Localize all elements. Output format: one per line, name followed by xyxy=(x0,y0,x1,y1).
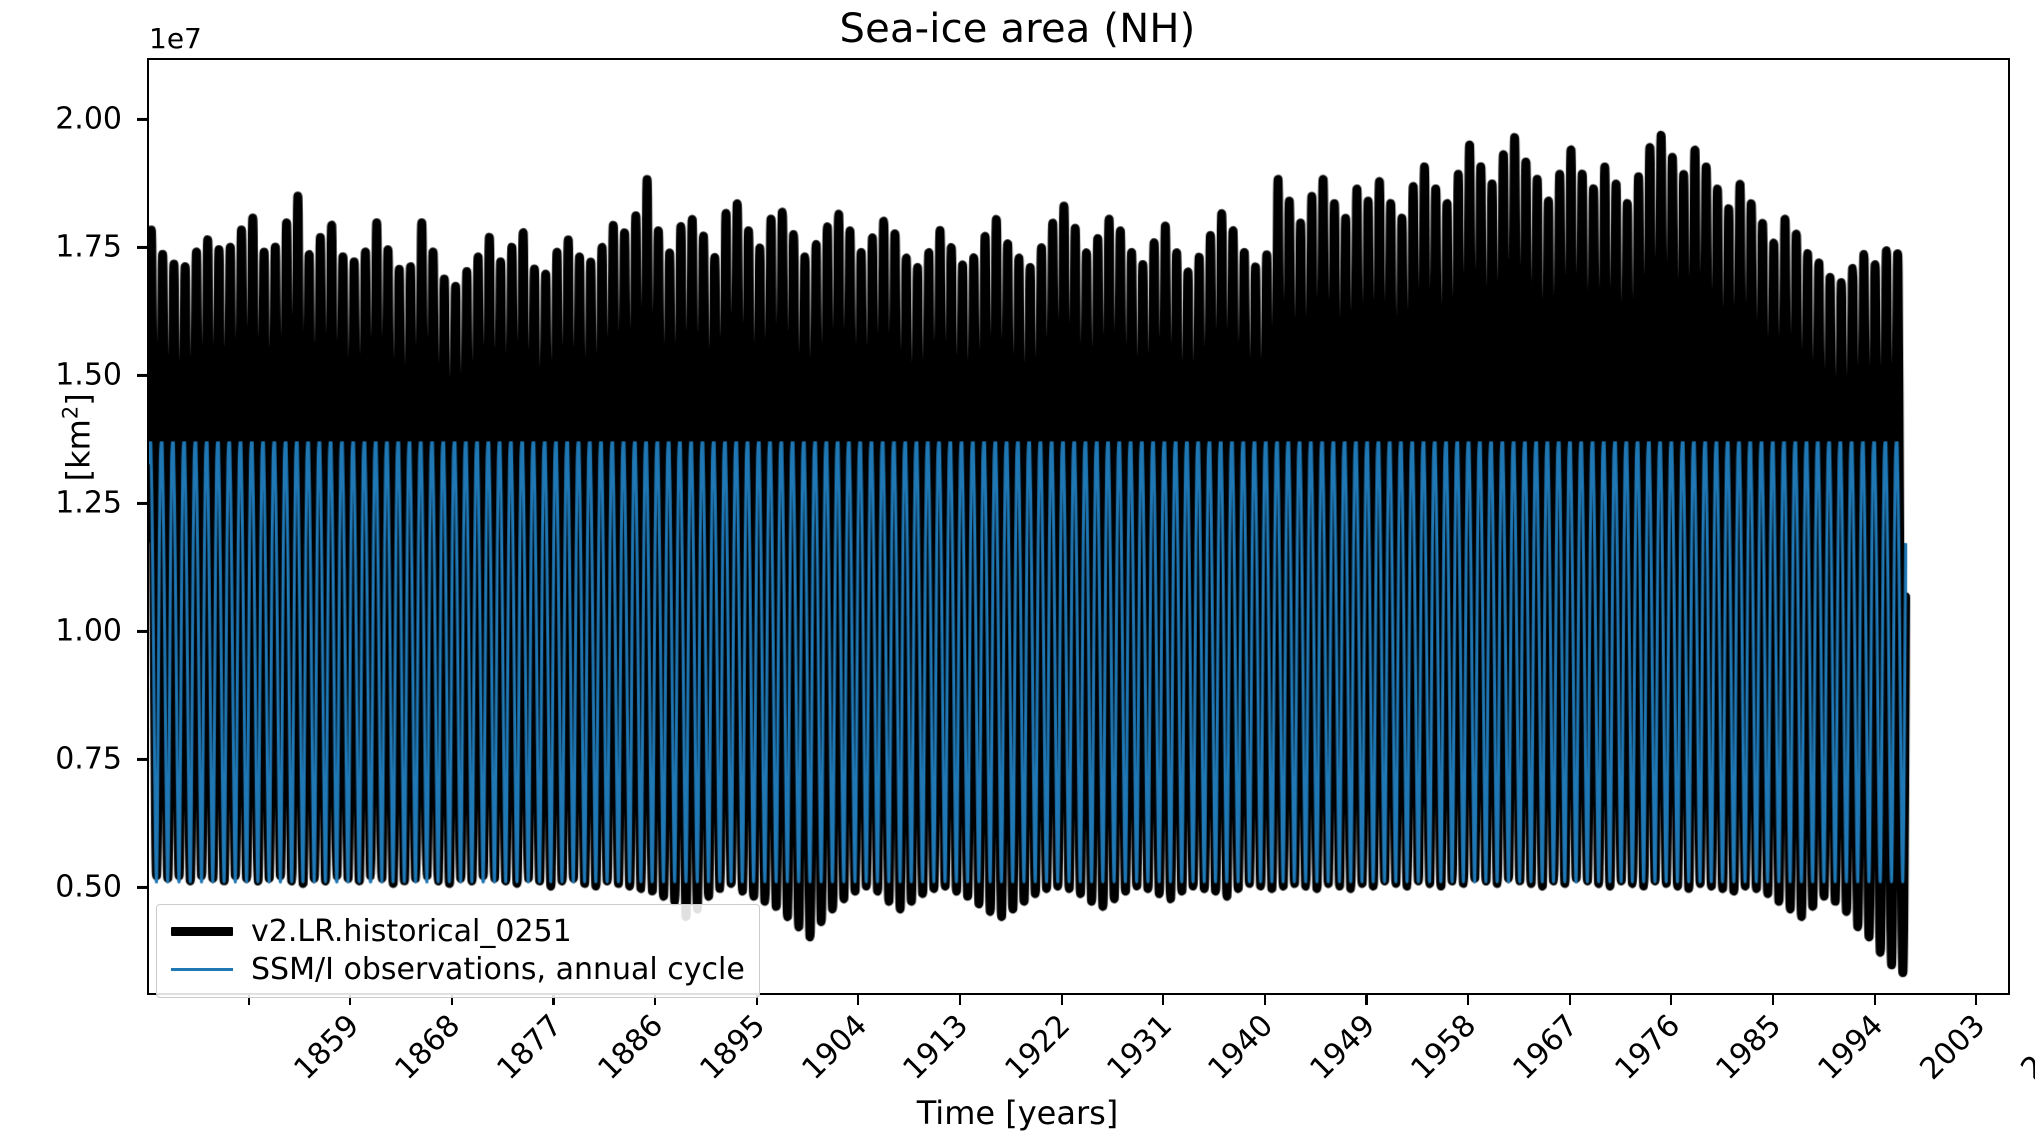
x-axis-tick-mark xyxy=(1874,995,1876,1005)
x-axis-tick-mark xyxy=(1772,995,1774,1005)
y-axis-tick-label: 2.00 xyxy=(12,102,122,137)
x-axis-tick-label: 1940 xyxy=(1202,1008,1281,1087)
x-axis-tick-mark xyxy=(1061,995,1063,1005)
x-axis-tick-label: 1877 xyxy=(490,1008,569,1087)
chart-title: Sea-ice area (NH) xyxy=(0,6,2035,52)
x-axis-tick-label-text: 1877 xyxy=(490,1008,569,1087)
series-canvas xyxy=(149,60,2008,993)
x-axis-tick-label: 1976 xyxy=(1608,1008,1687,1087)
plot-area xyxy=(147,58,2010,995)
x-axis-tick-label: 1958 xyxy=(1405,1008,1484,1087)
y-axis-tick-mark xyxy=(137,118,147,120)
y-axis-tick-mark xyxy=(137,886,147,888)
x-axis-tick-label-text: 2003 xyxy=(1913,1008,1992,1087)
x-axis-tick-label-text: 1922 xyxy=(998,1008,1077,1087)
x-axis-tick-label: 1904 xyxy=(795,1008,874,1087)
x-axis-tick-label-text: 1967 xyxy=(1506,1008,1585,1087)
legend-swatch-model xyxy=(171,927,233,936)
x-axis-tick-label-text: 1994 xyxy=(1811,1008,1890,1087)
x-axis-tick-label: 1949 xyxy=(1303,1008,1382,1087)
x-axis-tick-label: 1994 xyxy=(1811,1008,1890,1087)
x-axis-tick-label-text: 1904 xyxy=(795,1008,874,1087)
legend-item-observations[interactable]: SSM/I observations, annual cycle xyxy=(171,950,745,988)
x-axis-tick-label: 1931 xyxy=(1100,1008,1179,1087)
y-axis-tick-label: 1.75 xyxy=(12,230,122,265)
x-axis-tick-label: 1886 xyxy=(592,1008,671,1087)
x-axis-tick-mark xyxy=(1467,995,1469,1005)
x-axis-tick-mark xyxy=(1162,995,1164,1005)
x-axis-tick-label: 1985 xyxy=(1710,1008,1789,1087)
x-axis-tick-label-text: 1868 xyxy=(389,1008,468,1087)
legend-label-model: v2.LR.historical_0251 xyxy=(251,914,572,949)
x-axis-tick-label-text: 1895 xyxy=(693,1008,772,1087)
x-axis-tick-mark xyxy=(1365,995,1367,1005)
y-axis-tick-label: 0.50 xyxy=(12,870,122,905)
y-axis-offset-text: 1e7 xyxy=(149,22,202,55)
x-axis-tick-label: 1922 xyxy=(998,1008,1077,1087)
x-axis-tick-mark xyxy=(1569,995,1571,1005)
y-axis-tick-mark xyxy=(137,246,147,248)
legend[interactable]: v2.LR.historical_0251 SSM/I observations… xyxy=(156,904,760,998)
x-axis-tick-label-text: 1958 xyxy=(1405,1008,1484,1087)
x-axis-tick-mark xyxy=(1264,995,1266,1005)
x-axis-tick-label-text: 1913 xyxy=(897,1008,976,1087)
x-axis-tick-label-text: 1886 xyxy=(592,1008,671,1087)
legend-swatch-observations xyxy=(171,968,233,971)
x-axis-tick-label: 1913 xyxy=(897,1008,976,1087)
y-axis-tick-labels: 2.001.751.501.251.000.750.50 xyxy=(0,0,122,1141)
y-axis-tick-mark xyxy=(137,374,147,376)
x-axis-tick-label-text: 2012 xyxy=(2014,1008,2035,1087)
x-axis-tick-mark xyxy=(1975,995,1977,1005)
x-axis-tick-label-text: 1940 xyxy=(1202,1008,1281,1087)
x-axis-tick-label-text: 1931 xyxy=(1100,1008,1179,1087)
legend-label-observations: SSM/I observations, annual cycle xyxy=(251,952,745,987)
x-axis-tick-label: 1967 xyxy=(1506,1008,1585,1087)
x-axis-label: Time [years] xyxy=(0,1094,2035,1132)
x-axis-tick-label-text: 1985 xyxy=(1710,1008,1789,1087)
figure-root: Sea-ice area (NH) 1e7 [km2] 2.001.751.50… xyxy=(0,0,2035,1141)
y-axis-tick-mark xyxy=(137,758,147,760)
x-axis-tick-label-text: 1976 xyxy=(1608,1008,1687,1087)
y-axis-tick-label: 1.50 xyxy=(12,358,122,393)
legend-item-model[interactable]: v2.LR.historical_0251 xyxy=(171,912,745,950)
x-axis-tick-mark xyxy=(857,995,859,1005)
y-axis-tick-mark xyxy=(137,630,147,632)
y-axis-tick-label: 1.25 xyxy=(12,486,122,521)
y-axis-tick-label: 1.00 xyxy=(12,614,122,649)
x-axis-tick-label: 2012 xyxy=(2014,1008,2035,1087)
y-axis-tick-mark xyxy=(137,502,147,504)
x-axis-tick-mark xyxy=(1670,995,1672,1005)
x-axis-tick-label: 1859 xyxy=(287,1008,366,1087)
x-axis-tick-label: 2003 xyxy=(1913,1008,1992,1087)
x-axis-tick-label-text: 1949 xyxy=(1303,1008,1382,1087)
y-axis-tick-label: 0.75 xyxy=(12,742,122,777)
x-axis-tick-mark xyxy=(959,995,961,1005)
x-axis-tick-label-text: 1859 xyxy=(287,1008,366,1087)
x-axis-tick-label: 1895 xyxy=(693,1008,772,1087)
x-axis-tick-label: 1868 xyxy=(389,1008,468,1087)
